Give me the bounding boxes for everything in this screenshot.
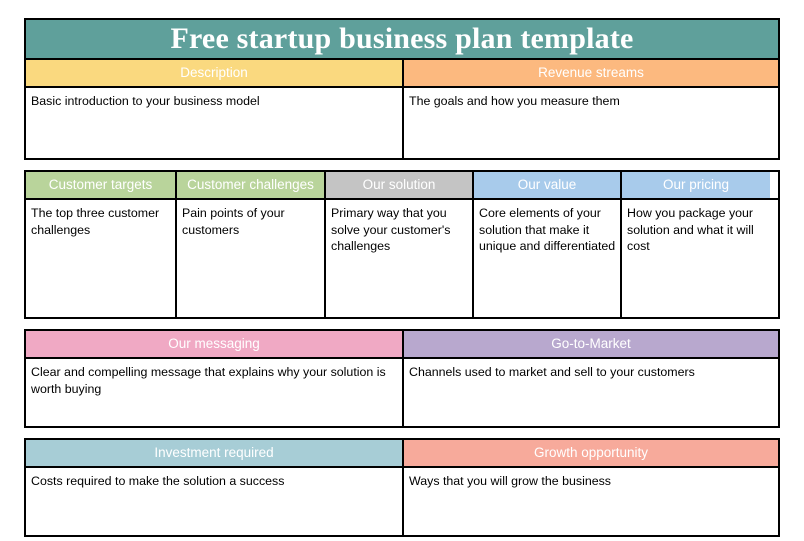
section-customer-solution-header-row: Customer targets Customer challenges Our… — [26, 172, 778, 200]
body-text-our-solution: Primary way that you solve your customer… — [331, 205, 468, 255]
body-cell-our-solution[interactable]: Primary way that you solve your customer… — [324, 200, 472, 317]
body-text-description: Basic introduction to your business mode… — [31, 93, 398, 110]
body-cell-customer-targets[interactable]: The top three customer challenges — [26, 200, 175, 317]
header-label-growth-opportunity: Growth opportunity — [534, 446, 648, 460]
section-messaging-gtm-header-row: Our messaging Go-to-Market — [26, 331, 778, 359]
header-cell-growth-opportunity: Growth opportunity — [402, 440, 778, 466]
header-cell-revenue-streams: Revenue streams — [402, 60, 778, 86]
header-cell-go-to-market: Go-to-Market — [402, 331, 778, 357]
header-cell-our-messaging: Our messaging — [26, 331, 402, 357]
body-text-our-pricing: How you package your solution and what i… — [627, 205, 766, 255]
body-text-customer-targets: The top three customer challenges — [31, 205, 171, 238]
body-cell-our-value[interactable]: Core elements of your solution that make… — [472, 200, 620, 317]
body-text-customer-challenges: Pain points of your customers — [182, 205, 320, 238]
page-title: Free startup business plan template — [170, 24, 633, 54]
header-label-revenue-streams: Revenue streams — [538, 66, 644, 80]
body-cell-our-messaging[interactable]: Clear and compelling message that explai… — [26, 359, 402, 426]
header-cell-customer-targets: Customer targets — [26, 172, 175, 198]
body-text-growth-opportunity: Ways that you will grow the business — [409, 473, 774, 490]
header-label-customer-targets: Customer targets — [49, 178, 153, 192]
header-cell-description: Description — [26, 60, 402, 86]
section-overview-body-row: Basic introduction to your business mode… — [26, 88, 778, 158]
header-label-go-to-market: Go-to-Market — [551, 337, 631, 351]
body-cell-description[interactable]: Basic introduction to your business mode… — [26, 88, 402, 158]
body-text-our-messaging: Clear and compelling message that explai… — [31, 364, 398, 397]
header-label-our-pricing: Our pricing — [663, 178, 729, 192]
header-cell-our-pricing: Our pricing — [620, 172, 770, 198]
body-text-revenue-streams: The goals and how you measure them — [409, 93, 774, 110]
section-overview: Description Revenue streams Basic introd… — [24, 60, 780, 160]
header-label-customer-challenges: Customer challenges — [187, 178, 314, 192]
section-investment-growth-header-row: Investment required Growth opportunity — [26, 440, 778, 468]
header-cell-investment-required: Investment required — [26, 440, 402, 466]
header-label-investment-required: Investment required — [154, 446, 273, 460]
document-title-bar: Free startup business plan template — [24, 18, 780, 60]
section-messaging-gtm-body-row: Clear and compelling message that explai… — [26, 359, 778, 426]
section-investment-growth-body-row: Costs required to make the solution a su… — [26, 468, 778, 535]
body-text-our-value: Core elements of your solution that make… — [479, 205, 616, 255]
body-cell-investment-required[interactable]: Costs required to make the solution a su… — [26, 468, 402, 535]
body-text-investment-required: Costs required to make the solution a su… — [31, 473, 398, 490]
section-customer-solution-body-row: The top three customer challenges Pain p… — [26, 200, 778, 317]
header-cell-our-value: Our value — [472, 172, 620, 198]
header-cell-our-solution: Our solution — [324, 172, 472, 198]
header-label-our-messaging: Our messaging — [168, 337, 260, 351]
body-cell-growth-opportunity[interactable]: Ways that you will grow the business — [402, 468, 778, 535]
header-label-our-value: Our value — [518, 178, 577, 192]
header-label-our-solution: Our solution — [363, 178, 436, 192]
body-cell-customer-challenges[interactable]: Pain points of your customers — [175, 200, 324, 317]
section-messaging-gtm: Our messaging Go-to-Market Clear and com… — [24, 329, 780, 428]
section-customer-solution: Customer targets Customer challenges Our… — [24, 170, 780, 319]
body-cell-revenue-streams[interactable]: The goals and how you measure them — [402, 88, 778, 158]
section-overview-header-row: Description Revenue streams — [26, 60, 778, 88]
body-text-go-to-market: Channels used to market and sell to your… — [409, 364, 774, 381]
header-cell-customer-challenges: Customer challenges — [175, 172, 324, 198]
body-cell-go-to-market[interactable]: Channels used to market and sell to your… — [402, 359, 778, 426]
body-cell-our-pricing[interactable]: How you package your solution and what i… — [620, 200, 770, 317]
header-label-description: Description — [180, 66, 248, 80]
section-investment-growth: Investment required Growth opportunity C… — [24, 438, 780, 537]
business-plan-template: Free startup business plan template Desc… — [24, 18, 780, 537]
